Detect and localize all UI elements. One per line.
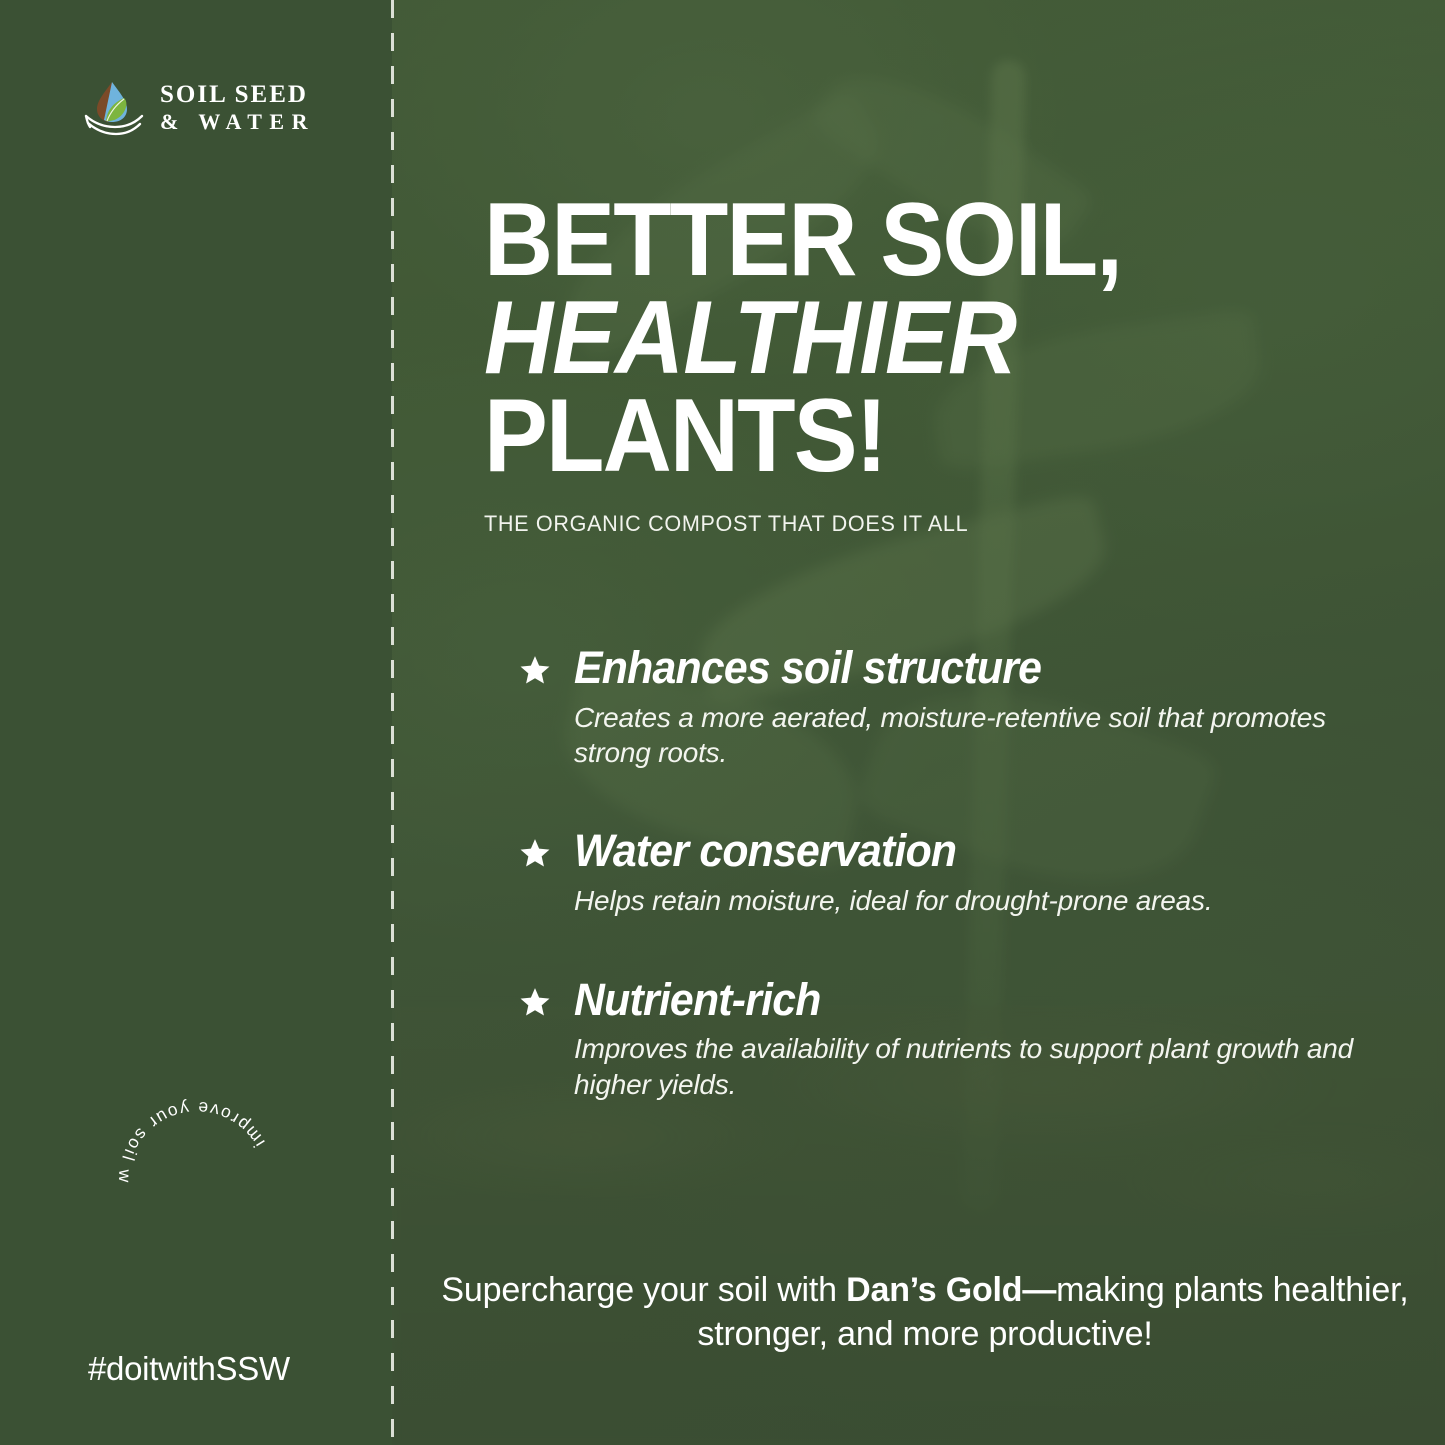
closing-tagline: Supercharge your soil with Dan’s Gold—ma… xyxy=(420,1268,1430,1356)
brand-logo-line-2: & WATER xyxy=(160,109,315,136)
hashtag-label: #doitwithSSW xyxy=(88,1350,290,1388)
star-icon xyxy=(518,985,552,1019)
star-icon xyxy=(518,653,552,687)
circular-badge: improve your soil with ssw. xyxy=(97,1080,297,1280)
benefit-description: Helps retain moisture, ideal for drought… xyxy=(574,883,1364,918)
brand-logo-wordmark: SOIL SEED & WATER xyxy=(160,81,315,136)
benefit-title: Water conservation xyxy=(574,828,956,874)
benefit-title: Enhances soil structure xyxy=(574,645,1041,691)
water-droplet-leaf-in-hand-icon xyxy=(82,76,146,140)
benefit-description: Creates a more aerated, moisture-retenti… xyxy=(574,700,1364,771)
page-title: BETTER SOIL, HEALTHIER PLANTS! xyxy=(484,192,1312,485)
circular-badge-text: improve your soil with ssw. xyxy=(89,1064,269,1186)
benefit-heading-row: Water conservation xyxy=(518,828,1398,874)
star-icon xyxy=(518,836,552,870)
benefit-item: Water conservation Helps retain moisture… xyxy=(518,828,1398,918)
brand-logo-line-1: SOIL SEED xyxy=(160,81,315,109)
tagline-emphasis: Dan’s Gold— xyxy=(846,1271,1056,1309)
benefit-heading-row: Nutrient-rich xyxy=(518,977,1398,1023)
tagline-before: Supercharge your soil with xyxy=(441,1271,846,1309)
hero-subheading: THE ORGANIC COMPOST THAT DOES IT ALL xyxy=(484,511,1348,537)
headline-line-3: PLANTS! xyxy=(484,388,1312,486)
poster-canvas: SOIL SEED & WATER BETTER SOIL, HEALTHIER… xyxy=(0,0,1445,1445)
benefit-heading-row: Enhances soil structure xyxy=(518,645,1398,691)
headline-line-2: HEALTHIER xyxy=(484,290,1312,388)
brand-logo[interactable]: SOIL SEED & WATER xyxy=(82,76,315,140)
hero-heading-block: BETTER SOIL, HEALTHIER PLANTS! THE ORGAN… xyxy=(484,192,1384,537)
headline-line-1: BETTER SOIL, xyxy=(484,192,1312,290)
benefit-title: Nutrient-rich xyxy=(574,977,821,1023)
dashed-divider xyxy=(391,0,394,1445)
benefits-list: Enhances soil structure Creates a more a… xyxy=(518,645,1398,1102)
benefit-item: Enhances soil structure Creates a more a… xyxy=(518,645,1398,770)
benefit-description: Improves the availability of nutrients t… xyxy=(574,1031,1398,1102)
benefit-item: Nutrient-rich Improves the availability … xyxy=(518,977,1398,1102)
